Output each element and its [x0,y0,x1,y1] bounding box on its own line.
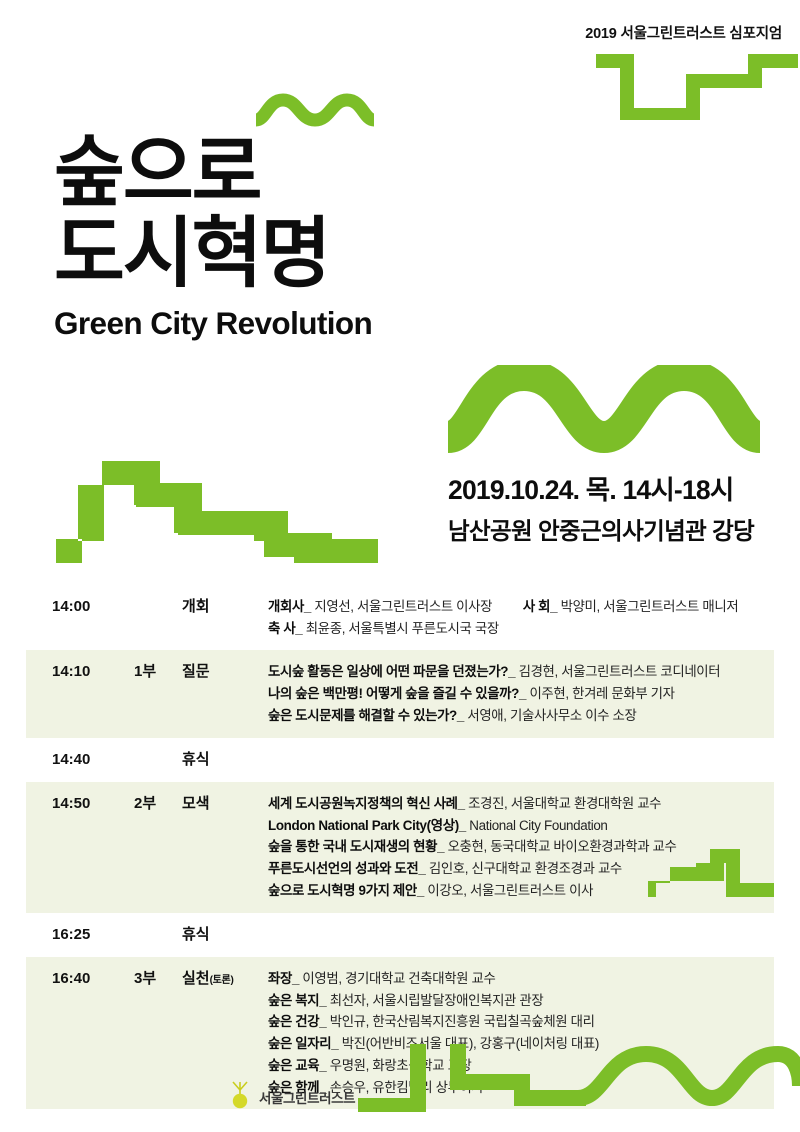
detail-rest-2: 박양미, 서울그린트러스트 매니저 [561,599,739,614]
row-phase-note: (토론) [210,975,234,986]
detail-lead: 숲은 건강_ [268,1014,326,1029]
poster-title-block: 숲으로 도시혁명 Green City Revolution [54,136,372,342]
detail-rest: 서영애, 기술사사무소 이수 소장 [467,708,636,723]
detail-line: 숲은 도시문제를 해결할 수 있는가?_ 서영애, 기술사사무소 이수 소장 [268,705,760,727]
step-decoration-left-solid [56,455,378,565]
row-phase: 모색 [182,793,268,816]
row-phase-label: 질문 [182,663,210,680]
detail-lead: 숲은 복지_ [268,993,326,1008]
row-part: 3부 [134,968,182,991]
detail-rest: 박인규, 한국산림복지진흥원 국립칠곡숲체원 대리 [330,1014,595,1029]
row-details: 세계 도시공원녹지정책의 혁신 사례_ 조경진, 서울대학교 환경대학원 교수 … [268,793,774,902]
detail-rest: 최윤종, 서울특별시 푸른도시국 국장 [306,621,499,636]
detail-line: 좌장_ 이영범, 경기대학교 건축대학원 교수 [268,968,760,990]
row-details: 개회사_ 지영선, 서울그린트러스트 이사장 사 회_ 박양미, 서울그린트러스… [268,596,774,639]
detail-lead: 숲은 도시문제를 해결할 수 있는가?_ [268,708,464,723]
row-phase-label: 휴식 [182,751,210,768]
row-details: 도시숲 활동은 일상에 어떤 파문을 던졌는가?_ 김경현, 서울그린트러스트 … [268,661,774,726]
row-phase-label: 휴식 [182,926,210,943]
detail-line: London National Park City(영상)_ National … [268,815,760,837]
detail-rest: 김경현, 서울그린트러스트 코디네이터 [519,664,721,679]
title-line-1: 숲으로 [54,136,372,211]
detail-rest: 우명원, 화랑초등학교 교장 [330,1058,472,1073]
detail-lead: 축 사_ [268,621,302,636]
row-phase: 휴식 [182,924,268,947]
detail-lead: 세계 도시공원녹지정책의 혁신 사례_ [268,796,465,811]
row-phase: 휴식 [182,749,268,772]
table-row: 16:25 휴식 [26,913,774,958]
poster-canvas: 2019 서울그린트러스트 심포지엄 숲으로 도시혁명 Green City R… [0,0,800,1132]
row-phase-label: 개회 [182,598,210,615]
detail-line: 숲은 건강_ 박인규, 한국산림복지진흥원 국립칠곡숲체원 대리 [268,1011,760,1033]
symposium-kicker: 2019 서울그린트러스트 심포지엄 [585,22,782,43]
detail-lead: 나의 숲은 백만평! 어떻게 숲을 즐길 수 있을까?_ [268,686,526,701]
table-row: 14:00 개회 개회사_ 지영선, 서울그린트러스트 이사장 사 회_ 박양미… [26,585,774,650]
row-time: 14:10 [26,661,134,684]
row-phase: 질문 [182,661,268,684]
detail-lead: 도시숲 활동은 일상에 어떤 파문을 던졌는가?_ [268,664,515,679]
detail-lead: 개회사_ [268,599,311,614]
detail-line: 나의 숲은 백만평! 어떻게 숲을 즐길 수 있을까?_ 이주현, 한겨레 문화… [268,683,760,705]
wave-decoration-large [446,365,762,453]
detail-lead: 숲으로 도시혁명 9가지 제안_ [268,883,424,898]
detail-line: 숲은 교육_ 우명원, 화랑초등학교 교장 [268,1055,760,1077]
detail-rest: 김인호, 신구대학교 환경조경과 교수 [429,861,622,876]
footer-org-name: 서울그린트러스트 [259,1087,355,1107]
detail-rest: 이영범, 경기대학교 건축대학원 교수 [302,971,495,986]
table-row: 14:10 1부 질문 도시숲 활동은 일상에 어떤 파문을 던졌는가?_ 김경… [26,650,774,737]
row-time: 14:00 [26,596,134,619]
detail-lead: 숲은 교육_ [268,1058,326,1073]
table-row: 14:50 2부 모색 세계 도시공원녹지정책의 혁신 사례_ 조경진, 서울대… [26,782,774,913]
detail-rest: National City Foundation [469,818,607,833]
detail-line: 숲으로 도시혁명 9가지 제안_ 이강오, 서울그린트러스트 이사 [268,880,760,902]
title-english: Green City Revolution [54,305,372,342]
detail-line: 도시숲 활동은 일상에 어떤 파문을 던졌는가?_ 김경현, 서울그린트러스트 … [268,661,760,683]
footer-logo: 서울그린트러스트 [228,1079,355,1114]
detail-rest: 오충현, 동국대학교 바이오환경과학과 교수 [448,839,677,854]
row-time: 14:50 [26,793,134,816]
detail-lead: 좌장_ [268,971,299,986]
detail-rest: 조경진, 서울대학교 환경대학원 교수 [468,796,661,811]
detail-lead-2: 사 회_ [523,599,557,614]
step-decoration-left [56,455,376,563]
row-phase-label: 실천 [182,970,210,987]
detail-lead: London National Park City(영상)_ [268,818,466,833]
row-part: 2부 [134,793,182,816]
schedule-table: 14:00 개회 개회사_ 지영선, 서울그린트러스트 이사장 사 회_ 박양미… [26,585,774,1109]
detail-lead: 숲은 일자리_ [268,1036,338,1051]
detail-rest: 이강오, 서울그린트러스트 이사 [427,883,593,898]
row-phase-label: 모색 [182,795,210,812]
event-venue: 남산공원 안중근의사기념관 강당 [448,512,754,546]
row-time: 16:40 [26,968,134,991]
event-datetime-venue: 2019.10.24. 목. 14시-18시 남산공원 안중근의사기념관 강당 [448,468,754,546]
sprout-logo-icon [228,1079,252,1114]
step-decoration-top-right [596,46,798,120]
detail-lead: 숲을 통한 국내 도시재생의 현황_ [268,839,444,854]
detail-line: 숲을 통한 국내 도시재생의 현황_ 오충현, 동국대학교 바이오환경과학과 교… [268,836,760,858]
row-part: 1부 [134,661,182,684]
detail-line: 개회사_ 지영선, 서울그린트러스트 이사장 사 회_ 박양미, 서울그린트러스… [268,596,760,618]
table-row: 16:40 3부 실천(토론) 좌장_ 이영범, 경기대학교 건축대학원 교수 … [26,957,774,1109]
row-time: 14:40 [26,749,134,772]
detail-line: 푸른도시선언의 성과와 도전_ 김인호, 신구대학교 환경조경과 교수 [268,858,760,880]
event-datetime: 2019.10.24. 목. 14시-18시 [448,468,754,507]
detail-rest: 박진(어반비즈서울 대표), 강홍구(네이처링 대표) [342,1036,599,1051]
detail-rest: 최선자, 서울시립발달장애인복지관 관장 [330,993,544,1008]
table-row: 14:40 휴식 [26,738,774,783]
wave-decoration-small [252,88,378,132]
detail-lead: 푸른도시선언의 성과와 도전_ [268,861,425,876]
row-phase: 개회 [182,596,268,619]
title-line-2: 도시혁명 [54,217,372,292]
row-time: 16:25 [26,924,134,947]
detail-rest: 이주현, 한겨레 문화부 기자 [529,686,674,701]
detail-line: 숲은 일자리_ 박진(어반비즈서울 대표), 강홍구(네이처링 대표) [268,1033,760,1055]
detail-line: 세계 도시공원녹지정책의 혁신 사례_ 조경진, 서울대학교 환경대학원 교수 [268,793,760,815]
detail-line: 숲은 복지_ 최선자, 서울시립발달장애인복지관 관장 [268,990,760,1012]
detail-rest: 지영선, 서울그린트러스트 이사장 [314,599,492,614]
detail-line: 축 사_ 최윤종, 서울특별시 푸른도시국 국장 [268,618,760,640]
row-phase: 실천(토론) [182,968,268,991]
